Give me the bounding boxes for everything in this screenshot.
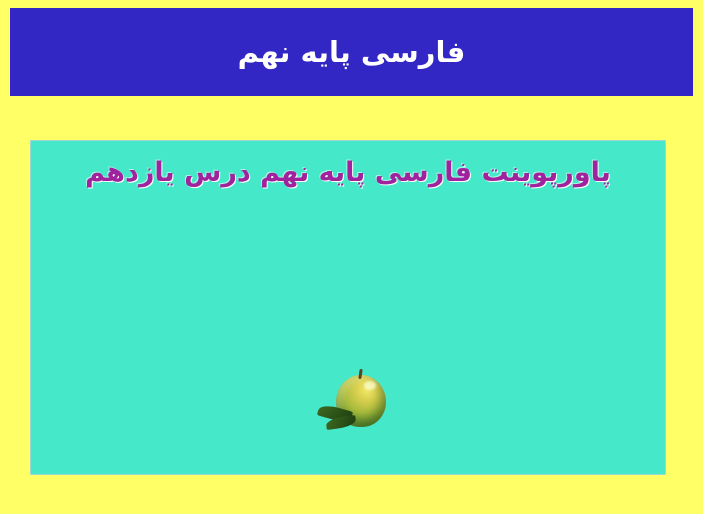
apple-highlight-shape <box>364 381 376 390</box>
page-root: فارسی پایه نهم پاورپوینت فارسی پایه نهم … <box>0 0 703 514</box>
apple-icon <box>312 363 402 453</box>
page-title: فارسی پایه نهم <box>238 35 466 69</box>
header-banner: فارسی پایه نهم <box>10 8 693 96</box>
slide-title: پاورپوینت فارسی پایه نهم درس یازدهم <box>31 157 665 188</box>
slide-card[interactable]: پاورپوینت فارسی پایه نهم درس یازدهم ✔ ✔ <box>30 140 666 475</box>
